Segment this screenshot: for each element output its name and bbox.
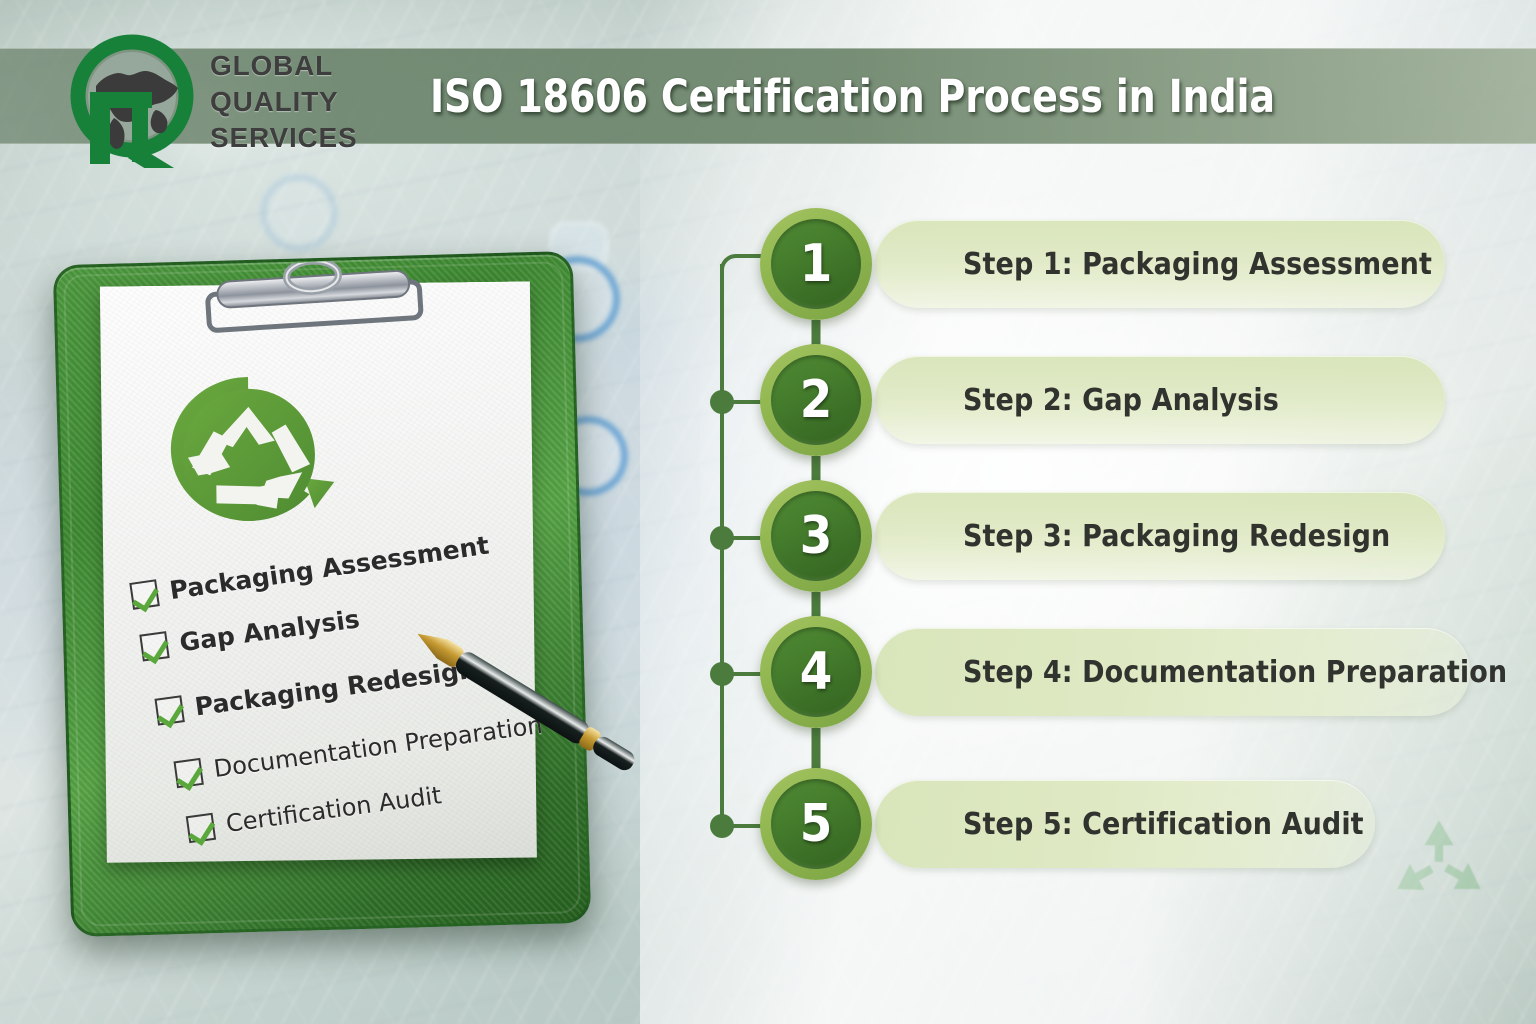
step-number: 5	[800, 798, 833, 850]
checklist-label: Documentation Preparation	[212, 711, 544, 783]
recycle-symbol-icon	[153, 366, 345, 548]
checkbox-checked-icon	[186, 812, 216, 842]
step-number: 3	[800, 510, 833, 562]
clipboard-clip-icon	[202, 255, 426, 335]
step-label: Step 5: Certification Audit	[963, 807, 1364, 842]
brand-logo: GLOBAL QUALITY SERVICES	[70, 32, 430, 172]
step-label: Step 1: Packaging Assessment	[963, 247, 1432, 282]
checklist-item: Gap Analysis	[139, 604, 361, 662]
step-item-1[interactable]: Step 1: Packaging Assessment 1	[760, 208, 1490, 320]
checkbox-checked-icon	[154, 695, 184, 725]
brand-line-2: QUALITY	[210, 84, 358, 120]
step-bar: Step 3: Packaging Redesign	[875, 492, 1445, 580]
step-badge-inner: 2	[771, 355, 861, 445]
step-label: Step 2: Gap Analysis	[963, 383, 1279, 418]
step-bar: Step 2: Gap Analysis	[875, 356, 1445, 444]
clipboard-checklist: Packaging Assessment Gap Analysis Packag…	[121, 548, 525, 853]
step-badge-inner: 1	[771, 219, 861, 309]
step-number: 4	[800, 646, 833, 698]
checklist-item: Certification Audit	[186, 781, 443, 843]
step-badge-inner: 3	[771, 491, 861, 581]
step-item-3[interactable]: Step 3: Packaging Redesign 3	[760, 480, 1490, 592]
page-title: ISO 18606 Certification Process in India	[430, 60, 1398, 132]
checklist-label: Gap Analysis	[178, 604, 361, 657]
step-label: Step 4: Documentation Preparation	[963, 655, 1507, 690]
checkbox-checked-icon	[139, 631, 169, 661]
step-badge[interactable]: 1	[760, 208, 872, 320]
step-badge-inner: 4	[771, 627, 861, 717]
step-badge-inner: 5	[771, 779, 861, 869]
step-item-5[interactable]: Step 5: Certification Audit 5	[760, 768, 1490, 880]
globe-q-logo-icon	[70, 34, 198, 168]
checklist-label: Packaging Redesign	[193, 655, 478, 722]
brand-line-3: SERVICES	[210, 120, 358, 156]
brand-line-1: GLOBAL	[210, 48, 358, 84]
step-number: 2	[800, 374, 833, 426]
step-badge[interactable]: 3	[760, 480, 872, 592]
brand-name: GLOBAL QUALITY SERVICES	[210, 48, 358, 156]
step-badge[interactable]: 5	[760, 768, 872, 880]
step-bar: Step 5: Certification Audit	[875, 780, 1375, 868]
step-item-4[interactable]: Step 4: Documentation Preparation 4	[760, 616, 1490, 728]
clipboard: Packaging Assessment Gap Analysis Packag…	[53, 251, 592, 937]
infographic-canvas: ISO 18606 Certification Process in India…	[0, 0, 1536, 1024]
checkbox-checked-icon	[129, 579, 160, 610]
checklist-label: Certification Audit	[224, 781, 443, 838]
step-item-2[interactable]: Step 2: Gap Analysis 2	[760, 344, 1490, 456]
step-bar: Step 1: Packaging Assessment	[875, 220, 1445, 308]
checkbox-checked-icon	[173, 757, 203, 787]
checklist-item: Documentation Preparation	[173, 711, 544, 788]
step-number: 1	[800, 238, 833, 290]
step-badge[interactable]: 2	[760, 344, 872, 456]
step-badge[interactable]: 4	[760, 616, 872, 728]
clipboard-paper: Packaging Assessment Gap Analysis Packag…	[100, 281, 537, 862]
checklist-item: Packaging Redesign	[154, 655, 478, 727]
step-label: Step 3: Packaging Redesign	[963, 519, 1390, 554]
step-bar: Step 4: Documentation Preparation	[875, 628, 1470, 716]
process-flow: Step 1: Packaging Assessment 1 Step 2: G…	[700, 196, 1490, 896]
